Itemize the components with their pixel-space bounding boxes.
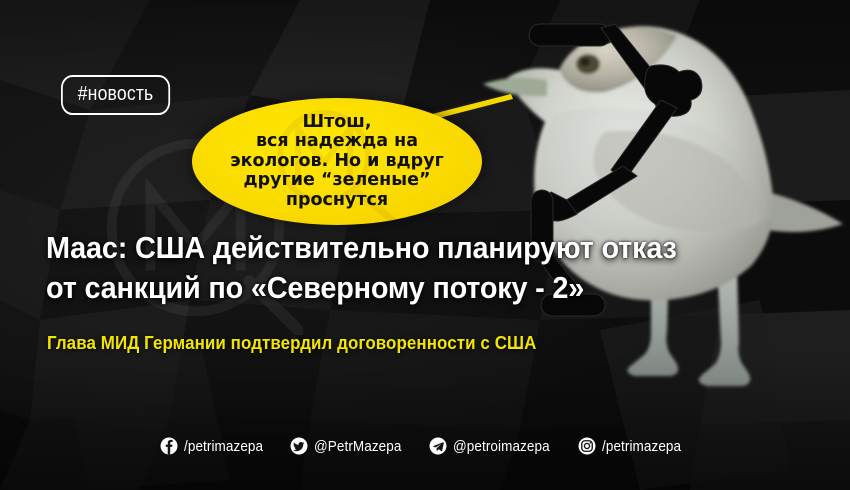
subtitle: Глава МИД Германии подтвердил договоренн… [47, 333, 536, 354]
social-link-facebook[interactable]: /petrimazepa [160, 437, 272, 455]
headline: Маас: США действительно планируют отказ … [46, 228, 716, 309]
news-hashtag-badge[interactable]: #новость [61, 75, 170, 115]
twitter-icon [290, 437, 308, 455]
social-handle: /petrimazepa [184, 438, 263, 455]
social-handle: @PetrMazepa [314, 438, 401, 455]
instagram-icon [578, 437, 596, 455]
news-card: #новость Штош, вся надежда на экологов. … [0, 0, 850, 490]
social-handle: @petroimazepa [453, 438, 550, 455]
telegram-icon [429, 437, 447, 455]
social-handle: /petrimazepa [602, 438, 681, 455]
speech-bubble: Штош, вся надежда на экологов. Но и вдру… [192, 98, 482, 225]
speech-bubble-text: Штош, вся надежда на экологов. Но и вдру… [224, 113, 450, 211]
social-link-twitter[interactable]: @PetrMazepa [290, 437, 411, 455]
social-links-bar: /petrimazepa @PetrMazepa @petroimazepa [0, 437, 850, 455]
facebook-icon [160, 437, 178, 455]
social-link-instagram[interactable]: /petrimazepa [578, 437, 690, 455]
social-link-telegram[interactable]: @petroimazepa [429, 437, 560, 455]
